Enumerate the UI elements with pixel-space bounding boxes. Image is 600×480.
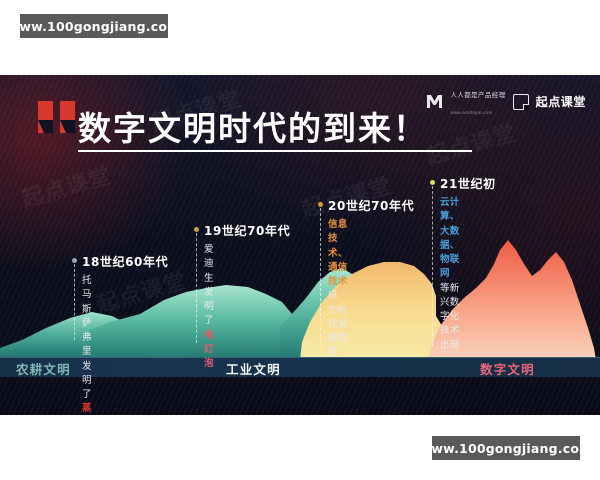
milestone-text-line2: 明了: [82, 375, 92, 400]
brand-channel-name: 起点课堂: [536, 93, 586, 110]
milestone-description: 托马斯萨弗里发 明了蒸汽机: [82, 274, 92, 415]
brand-lockup: 人人都是产品经理 www.woshipm.com 起点课堂: [426, 85, 586, 119]
slide-watermark: 起点课堂: [17, 158, 114, 214]
milestone-text-line2: 等新兴数字化技术出现: [440, 283, 460, 351]
milestone-year: 18世纪60年代: [82, 253, 168, 270]
watermark-top: www.100gongjiang.com: [20, 14, 168, 38]
milestone-text-line2: 为时代发展趋势: [328, 305, 348, 359]
milestone-dashed-line: [320, 208, 321, 346]
milestone-highlight: 云计算、大数据、物联网: [440, 197, 460, 279]
milestone-text-line1: 爱迪生发明了: [204, 244, 214, 326]
milestone-text-line1: 成: [328, 290, 338, 301]
square-bracket-icon: [513, 94, 529, 110]
milestone-highlight: 信息技术、通信技术: [328, 219, 348, 287]
era-label-digital: 数字文明: [480, 359, 535, 378]
milestone-year: 21世纪初: [440, 175, 496, 192]
title-underline: [78, 150, 472, 152]
watermark-bottom: www.100gongjiang.com: [432, 436, 580, 460]
era-label-agrarian: 农耕文明: [16, 359, 71, 378]
brand-product-text: 人人都是产品经理 www.woshipm.com: [450, 85, 505, 119]
milestone-dot-icon: [194, 227, 199, 232]
milestone-description: 爱迪生发明了电灯 泡: [204, 243, 214, 371]
milestone-year: 20世纪70年代: [328, 197, 414, 214]
m-logo-icon: [426, 94, 443, 109]
milestone-dashed-line: [432, 186, 433, 346]
milestone-year: 19世纪70年代: [204, 222, 290, 239]
brand-product-url: www.woshipm.com: [450, 110, 492, 115]
milestone-dot-icon: [72, 258, 77, 263]
brand-product-name: 人人都是产品经理: [450, 92, 505, 99]
milestone-description: 云计算、大数据、物联网 等新兴数字化技术出现: [440, 196, 460, 353]
milestone-description: 信息技术、通信技术成 为时代发展趋势: [328, 218, 348, 361]
milestone-highlight: 蒸汽机: [82, 403, 92, 415]
watermark-bottom-text: www.100gongjiang.com: [420, 441, 593, 456]
milestone-dashed-line: [74, 264, 75, 340]
slide-canvas: 起点课堂 起点课堂 起点课堂 起点课堂 起点课堂 人人都是产品经理 www.wo…: [0, 75, 600, 415]
slide-watermark: 起点课堂: [297, 168, 394, 224]
page-title: 数字文明时代的到来！: [78, 111, 472, 152]
milestone-dashed-line: [196, 233, 197, 343]
milestone-highlight-2: 泡: [204, 358, 214, 369]
milestone-dot-icon: [318, 202, 323, 207]
milestone-dot-icon: [430, 180, 435, 185]
quote-mark-icon: [38, 101, 75, 133]
milestone-text-line1: 托马斯萨弗里发: [82, 275, 92, 372]
era-label-industrial: 工业文明: [226, 359, 281, 378]
milestone-highlight: 电灯: [204, 330, 214, 355]
page-title-text: 数字文明时代的到来！: [78, 111, 472, 147]
watermark-top-text: www.100gongjiang.com: [8, 19, 181, 34]
